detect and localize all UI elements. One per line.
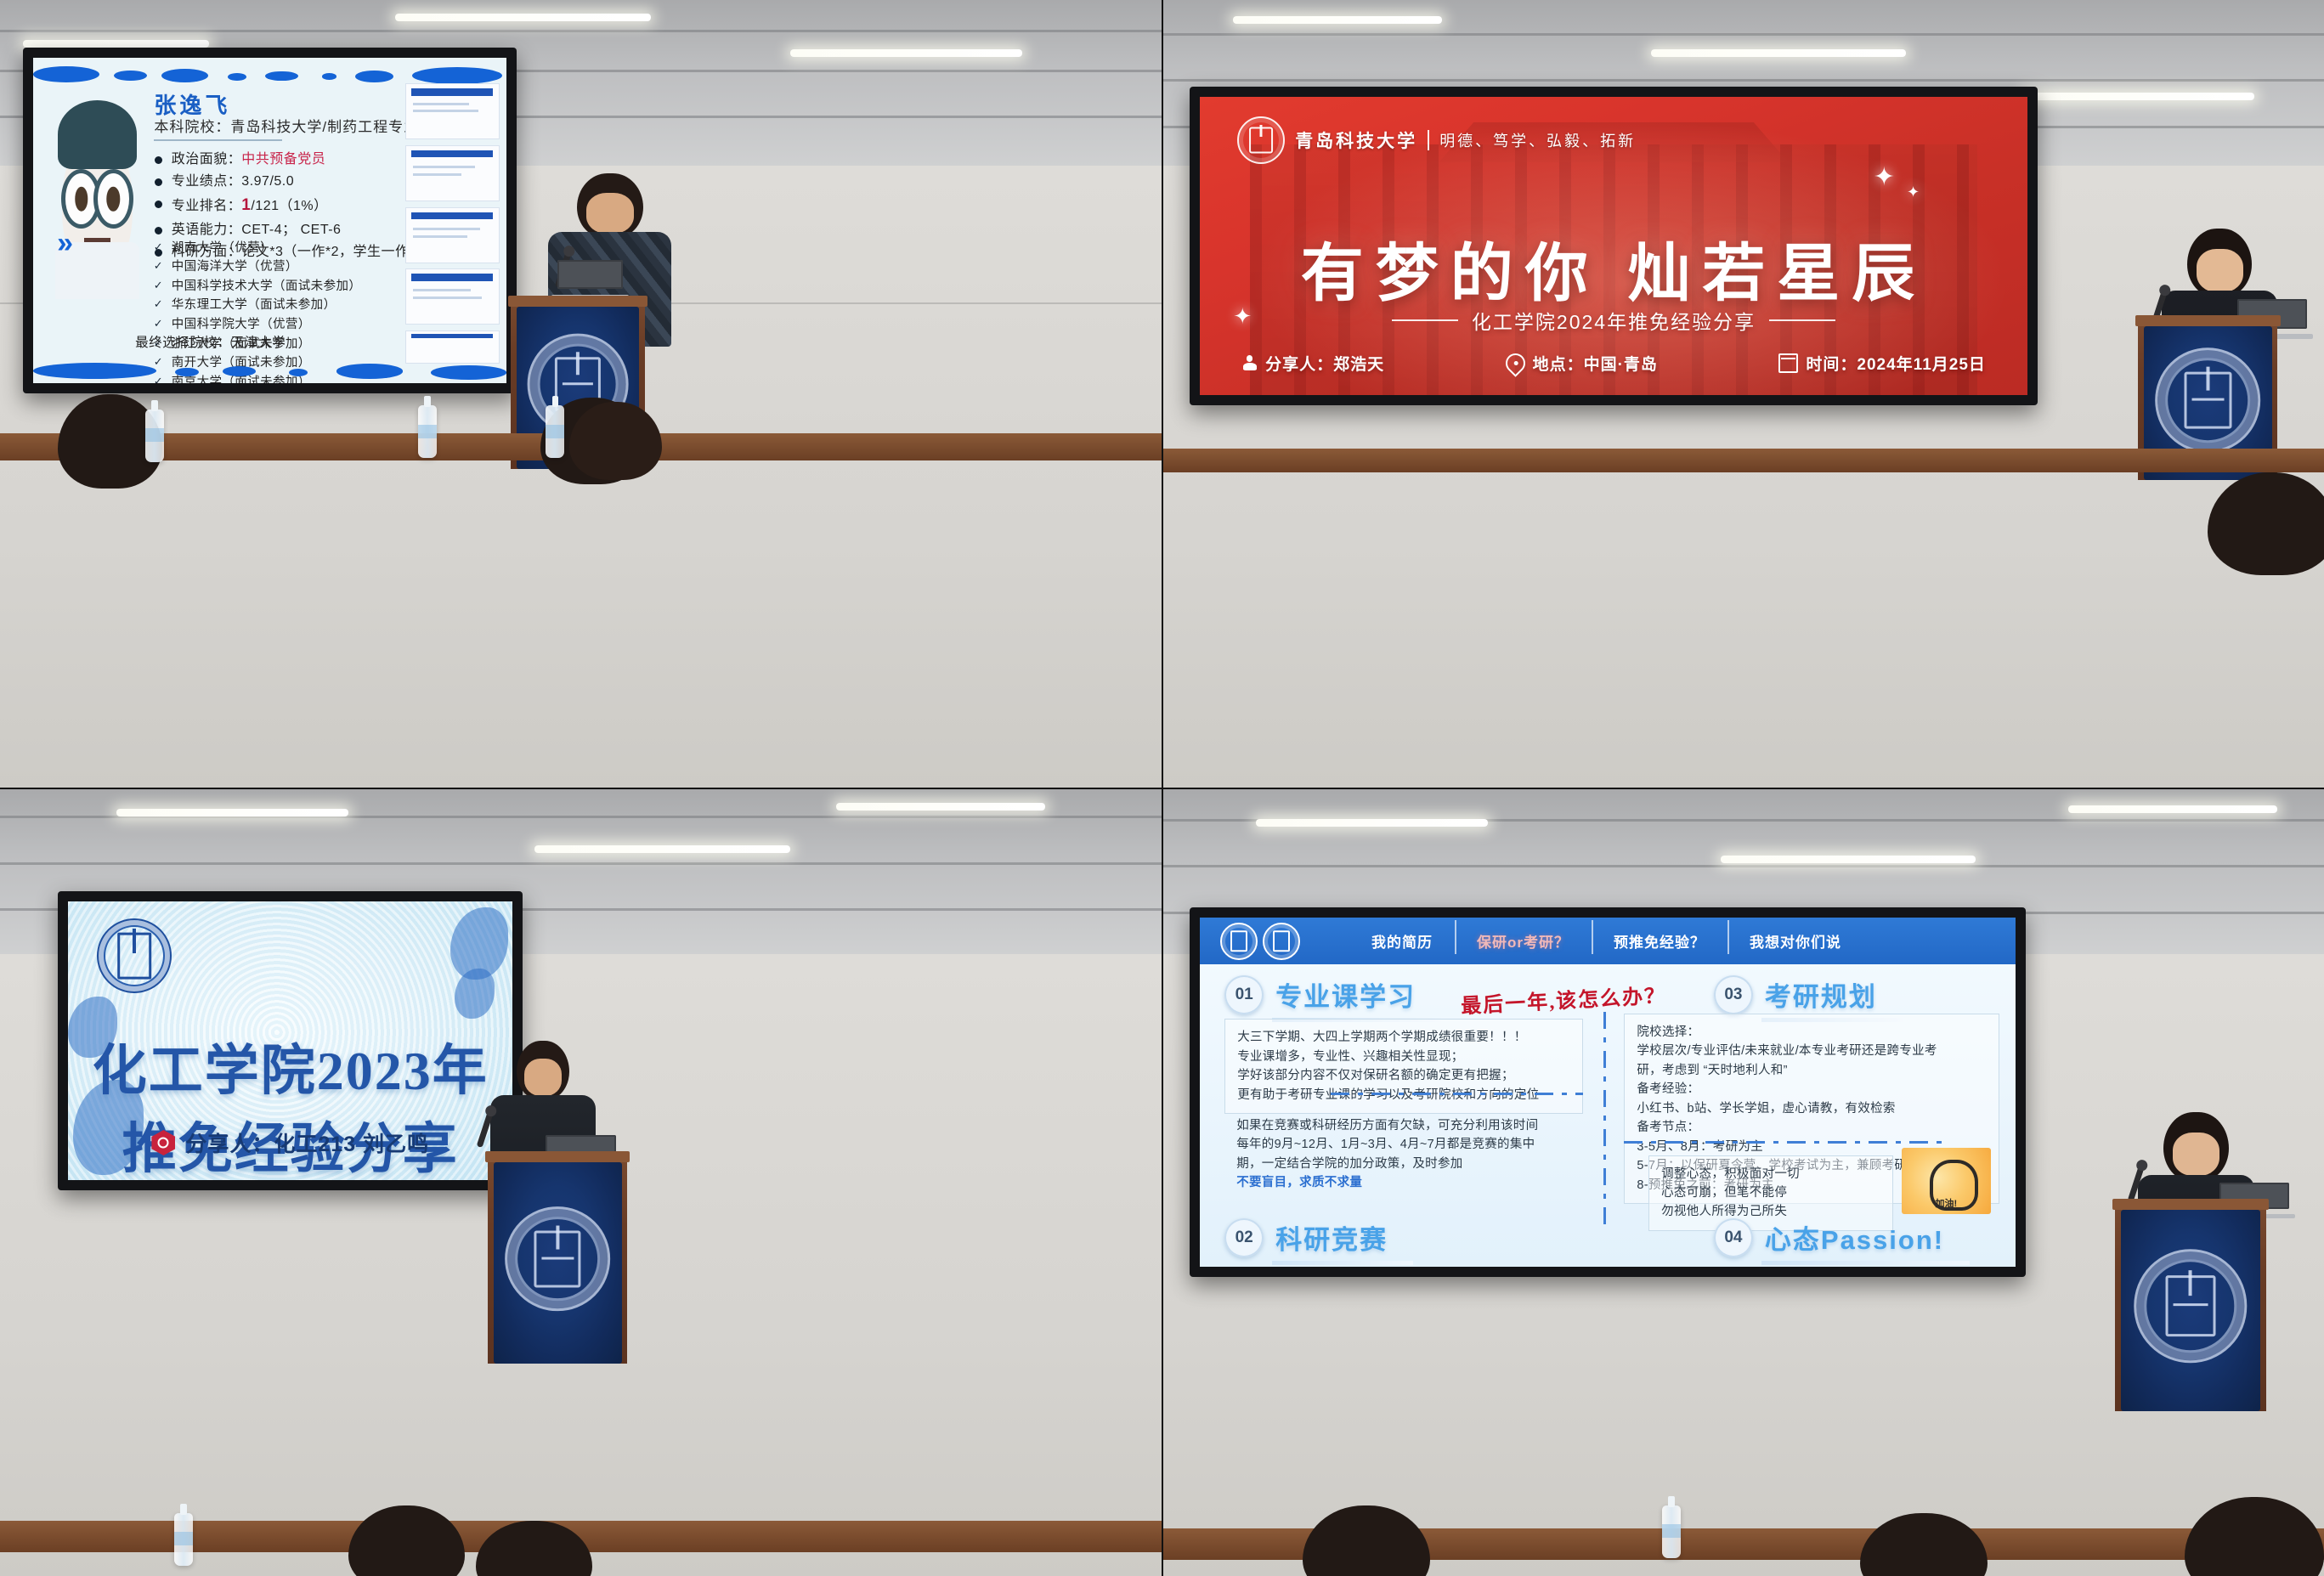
slide-nav-bar: 我的简历 保研or考研？ 预推免经验？ 我想对你们说 — [1200, 918, 2016, 965]
badge-icon — [151, 1130, 175, 1155]
podium-seal — [2134, 1250, 2247, 1363]
list-item: 中国科学技术大学（面试未参加） — [172, 277, 362, 297]
ceiling-lamp-icon — [395, 14, 651, 21]
slide-surface-red-title: 青岛科技大学 明德、笃学、弘毅、拓新 ✦ ✦ ✦ 有梦的你 灿若星辰 化工学院2… — [1200, 97, 2027, 395]
star-icon: ✦ — [1907, 184, 1920, 201]
qust-logo-icon — [1220, 923, 1258, 960]
avatar — [50, 97, 144, 299]
thumbnail — [405, 145, 500, 201]
section-number: 02 — [1224, 1218, 1264, 1257]
student-school-line: 本科院校：青岛科技大学/制药工程专业 — [154, 115, 419, 136]
laptop — [557, 260, 623, 299]
ceiling-lamp-icon — [1256, 819, 1488, 827]
red-title-slide-panel: 青岛科技大学 明德、笃学、弘毅、拓新 ✦ ✦ ✦ 有梦的你 灿若星辰 化工学院2… — [1163, 0, 2324, 788]
divider — [1428, 130, 1429, 150]
water-bottle — [1662, 1505, 1681, 1558]
ceiling-lamp-icon — [1721, 856, 1976, 863]
section-number: 03 — [1714, 975, 1753, 1014]
slide-meta-row: 分享人：郑浩天 地点：中国·青岛 时间：2024年11月25日 — [1241, 352, 1986, 375]
ceiling-lamp-icon — [1233, 16, 1442, 24]
section-number: 01 — [1224, 975, 1264, 1014]
college-logo-icon — [1263, 923, 1300, 960]
list-item: 华东理工大学（面试未参加） — [172, 296, 362, 315]
qust-logo-icon — [1237, 116, 1285, 164]
vertical-dashed-divider — [1603, 1012, 1606, 1229]
water-bottle — [174, 1513, 193, 1566]
water-bottle — [145, 410, 164, 462]
slide-wave-decoration-top — [33, 58, 506, 88]
presenter-text: 分享人：化工213 刘乙鸣 — [185, 1127, 429, 1158]
text-box-01: 大三下学期、大四上学期两个学期成绩很重要！！！ 专业课增多，专业性、兴趣相关性显… — [1224, 1019, 1583, 1114]
projection-screen-frame: 化工学院2023年推免经验分享 分享人：化工213 刘乙鸣 — [58, 891, 523, 1190]
text-box-02: 如果在竞赛或科研经历方面有欠缺，可充分利用该时间 每年的9月~12月、1月~3月… — [1224, 1108, 1583, 1201]
section-number: 04 — [1714, 1218, 1753, 1257]
cheer-caption: 加油! — [1936, 1196, 1958, 1210]
ceiling-lamp-icon — [1651, 49, 1907, 57]
meta-presenter: 分享人：郑浩天 — [1241, 352, 1384, 375]
slide-subtitle-row: 化工学院2024年推免经验分享 — [1283, 306, 1945, 335]
projection-screen-frame: 我的简历 保研or考研？ 预推免经验？ 我想对你们说 01 专业课学习 — [1190, 907, 2026, 1277]
chevron-right-icon: » — [57, 227, 68, 260]
slide-thumbnail-strip — [405, 83, 500, 364]
water-bottle — [546, 405, 564, 458]
dashed-divider — [1624, 1141, 1950, 1144]
profile-slide-panel: » 张逸飞 本科院校：青岛科技大学/制药工程专业 政治面貌：中共预备党员 专业绩… — [0, 0, 1162, 788]
lecture-room-br: 我的简历 保研or考研？ 预推免经验？ 我想对你们说 01 专业课学习 — [1163, 789, 2324, 1576]
slide-brand-bar: 青岛科技大学 明德、笃学、弘毅、拓新 — [1237, 116, 1636, 164]
ceiling-lamp-icon — [2022, 93, 2254, 100]
content-slide-panel: 我的简历 保研or考研？ 预推免经验？ 我想对你们说 01 专业课学习 — [1163, 789, 2324, 1576]
university-name: 青岛科技大学 — [1295, 127, 1417, 153]
podium — [488, 1151, 627, 1364]
nav-logos — [1220, 923, 1300, 960]
university-motto: 明德、笃学、弘毅、拓新 — [1439, 129, 1636, 151]
section-03: 03 考研规划 — [1714, 975, 1877, 1014]
ceiling-lamp-icon — [534, 845, 790, 853]
thumbnail — [405, 268, 500, 325]
blue-title-slide-panel: 化工学院2023年推免经验分享 分享人：化工213 刘乙鸣 — [0, 789, 1162, 1576]
desk-rail — [1163, 449, 2324, 472]
tab-postgrad-choice[interactable]: 保研or考研？ — [1455, 930, 1592, 952]
section-02: 02 科研竞赛 — [1224, 1218, 1388, 1257]
slide-surface-blue-title: 化工学院2023年推免经验分享 分享人：化工213 刘乙鸣 — [68, 901, 512, 1180]
section-04: 04 心态Passion! — [1714, 1218, 1944, 1257]
photo-collage: » 张逸飞 本科院校：青岛科技大学/制药工程专业 政治面貌：中共预备党员 专业绩… — [0, 0, 2324, 1576]
list-item: 中国海洋大学（优营） — [172, 257, 362, 277]
projection-screen-frame: » 张逸飞 本科院校：青岛科技大学/制药工程专业 政治面貌：中共预备党员 专业绩… — [23, 48, 517, 394]
dashed-divider — [1331, 1093, 1583, 1095]
location-pin-icon — [1501, 349, 1530, 377]
ceiling-lamp-icon — [836, 803, 1045, 811]
slide-wave-decoration-bottom — [33, 361, 506, 384]
ceiling-lamp-icon — [116, 809, 348, 816]
tab-message[interactable]: 我想对你们说 — [1727, 930, 1863, 952]
projection-screen-frame: 青岛科技大学 明德、笃学、弘毅、拓新 ✦ ✦ ✦ 有梦的你 灿若星辰 化工学院2… — [1190, 87, 2037, 405]
water-bottle — [418, 405, 437, 458]
lecture-room-bl: 化工学院2023年推免经验分享 分享人：化工213 刘乙鸣 — [0, 789, 1162, 1576]
ceiling-lamp-icon — [23, 40, 209, 48]
nav-items: 我的简历 保研or考研？ 预推免经验？ 我想对你们说 — [1349, 930, 1863, 952]
thumbnail — [405, 83, 500, 139]
slide-surface-profile: » 张逸飞 本科院校：青岛科技大学/制药工程专业 政治面貌：中共预备党员 专业绩… — [33, 58, 506, 384]
slide-presenter-row: 分享人：化工213 刘乙鸣 — [68, 1127, 512, 1158]
thumbnail — [405, 330, 500, 364]
ceiling-lamp-icon — [790, 49, 1022, 57]
person-icon — [1241, 355, 1258, 371]
thumbnail — [405, 207, 500, 263]
star-icon: ✦ — [1874, 162, 1895, 192]
section-label: 专业课学习 — [1275, 975, 1416, 1014]
section-label: 科研竞赛 — [1275, 1218, 1388, 1257]
podium — [2115, 1199, 2266, 1411]
lecture-room-tr: 青岛科技大学 明德、笃学、弘毅、拓新 ✦ ✦ ✦ 有梦的你 灿若星辰 化工学院2… — [1163, 0, 2324, 788]
tab-resume[interactable]: 我的简历 — [1349, 930, 1455, 952]
slide-surface-content: 我的简历 保研or考研？ 预推免经验？ 我想对你们说 01 专业课学习 — [1200, 918, 2016, 1267]
lecture-room-tl: » 张逸飞 本科院校：青岛科技大学/制药工程专业 政治面貌：中共预备党员 专业绩… — [0, 0, 1162, 788]
slide-subtitle: 化工学院2024年推免经验分享 — [1472, 306, 1756, 335]
section-01: 01 专业课学习 — [1224, 975, 1416, 1014]
calendar-icon — [1778, 353, 1798, 373]
podium-seal — [505, 1206, 610, 1312]
list-item: 湖南大学（优营） — [172, 239, 362, 258]
podium-seal — [2156, 347, 2261, 453]
final-choice-text: 最终选择院校：天津大学 — [135, 332, 286, 351]
meta-location: 地点：中国·青岛 — [1506, 352, 1658, 375]
cheer-illustration: 加油! — [1902, 1148, 1992, 1214]
section-label: 心态Passion! — [1765, 1218, 1944, 1257]
section-label: 考研规划 — [1765, 975, 1877, 1014]
title-underline — [154, 139, 281, 141]
college-logo-icon — [97, 918, 172, 993]
tab-preadmission-experience[interactable]: 预推免经验？ — [1592, 930, 1727, 952]
ceiling-lamp-icon — [2068, 805, 2277, 813]
meta-date: 时间：2024年11月25日 — [1778, 352, 1986, 375]
slide-main-title: 有梦的你 灿若星辰 — [1250, 223, 1977, 314]
